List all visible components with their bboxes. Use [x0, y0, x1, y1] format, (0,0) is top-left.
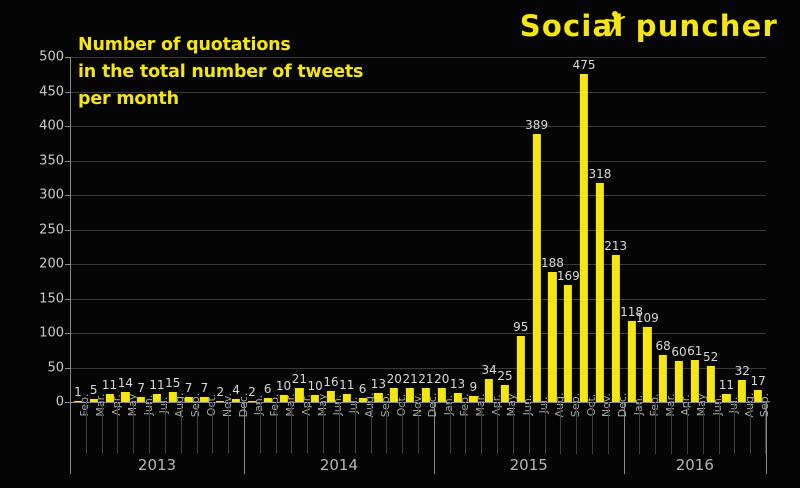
- bar-value-label: 20: [387, 373, 402, 386]
- bar-slot[interactable]: 20: [386, 57, 402, 402]
- bar-series: 1511147111577242610211016116132021212013…: [70, 57, 766, 402]
- year-separator: [70, 402, 71, 474]
- bar-slot[interactable]: 60: [671, 57, 687, 402]
- bar-slot[interactable]: 13: [371, 57, 387, 402]
- bar-value-label: 34: [482, 364, 497, 377]
- x-axis-month-cell: Sep.: [750, 402, 766, 454]
- x-axis-month-cell: Jan.: [244, 402, 260, 454]
- bar-slot[interactable]: 2: [244, 57, 260, 402]
- bar-value-label: 21: [418, 373, 433, 386]
- x-axis-month-cell: Jan.: [434, 402, 450, 454]
- x-axis-month-cell: Aug.: [165, 402, 181, 454]
- bar-value-label: 13: [450, 378, 465, 391]
- year-group-label: 2013: [138, 456, 176, 474]
- bar-value-label: 9: [470, 381, 478, 394]
- bar-value-label: 10: [276, 380, 291, 393]
- bar[interactable]: [612, 255, 620, 402]
- x-axis-month-cell: Dec.: [418, 402, 434, 454]
- x-axis-month-cell: Nov.: [212, 402, 228, 454]
- bar-value-label: 11: [339, 379, 354, 392]
- x-axis-month-cell: May: [497, 402, 513, 454]
- y-tick-label-0: 0: [24, 395, 64, 410]
- bar-value-label: 32: [735, 365, 750, 378]
- title-line-1: Number of quotations: [78, 32, 363, 59]
- x-axis: Feb.Mar.Apr.MayJun.Jul.Aug.Sep.Oct.Nov.D…: [70, 402, 766, 488]
- x-axis-month-cell: Sep.: [371, 402, 387, 454]
- x-axis-month-cell: Mar.: [86, 402, 102, 454]
- bar-slot[interactable]: 16: [323, 57, 339, 402]
- bar-value-label: 60: [671, 346, 686, 359]
- x-axis-month-cell: May: [687, 402, 703, 454]
- bar-slot[interactable]: 475: [576, 57, 592, 402]
- y-tick-label-50: 50: [24, 360, 64, 375]
- x-axis-month-cell: Jun.: [133, 402, 149, 454]
- bar-slot[interactable]: 61: [687, 57, 703, 402]
- x-axis-month-cell: Jan.: [624, 402, 640, 454]
- x-axis-month-cell: Aug.: [355, 402, 371, 454]
- bar-slot[interactable]: 68: [655, 57, 671, 402]
- x-axis-month-cell: May: [307, 402, 323, 454]
- bar-slot[interactable]: 169: [560, 57, 576, 402]
- bar-slot[interactable]: 20: [434, 57, 450, 402]
- brand-logo[interactable]: Social puncher: [520, 6, 778, 46]
- bar-slot[interactable]: 1: [70, 57, 86, 402]
- y-tick-label-350: 350: [24, 153, 64, 168]
- stick-figure-icon: [604, 10, 626, 36]
- x-axis-month-cell: Feb.: [450, 402, 466, 454]
- bar[interactable]: [564, 285, 572, 402]
- year-separator: [244, 402, 245, 474]
- bar-slot[interactable]: 95: [513, 57, 529, 402]
- bar-slot[interactable]: 9: [465, 57, 481, 402]
- x-axis-month-cell: Sep.: [181, 402, 197, 454]
- x-tick-label: Sep.: [758, 393, 771, 417]
- bar-slot[interactable]: 34: [481, 57, 497, 402]
- bar-slot[interactable]: 118: [624, 57, 640, 402]
- y-tick-label-200: 200: [24, 257, 64, 272]
- bar-slot[interactable]: 6: [355, 57, 371, 402]
- bar-slot[interactable]: 188: [545, 57, 561, 402]
- x-axis-month-cell: Feb.: [639, 402, 655, 454]
- bar-value-label: 21: [402, 373, 417, 386]
- x-axis-month-cell: Mar.: [655, 402, 671, 454]
- bar-value-label: 21: [292, 373, 307, 386]
- bar-slot[interactable]: 6: [260, 57, 276, 402]
- x-axis-month-cell: Apr.: [102, 402, 118, 454]
- bar[interactable]: [548, 272, 556, 402]
- bar-slot[interactable]: 11: [149, 57, 165, 402]
- y-tick-label-300: 300: [24, 188, 64, 203]
- y-tick-label-450: 450: [24, 84, 64, 99]
- bar-slot[interactable]: 17: [750, 57, 766, 402]
- bar[interactable]: [643, 327, 651, 402]
- bar-slot[interactable]: 11: [339, 57, 355, 402]
- y-tick-label-100: 100: [24, 326, 64, 341]
- bar-value-label: 11: [102, 379, 117, 392]
- year-separator: [624, 402, 625, 474]
- x-axis-month-cell: Jul.: [719, 402, 735, 454]
- bar-value-label: 16: [323, 376, 338, 389]
- bar-value-label: 25: [497, 370, 512, 383]
- x-axis-month-cell: Apr.: [291, 402, 307, 454]
- x-axis-month-cell: Oct.: [576, 402, 592, 454]
- year-separator: [766, 402, 767, 474]
- x-axis-month-cell: Dec.: [608, 402, 624, 454]
- x-axis-month-cell: Jun.: [323, 402, 339, 454]
- bar-value-label: 14: [118, 377, 133, 390]
- year-group-label: 2015: [510, 456, 548, 474]
- bar-slot[interactable]: 7: [181, 57, 197, 402]
- bar[interactable]: [517, 336, 525, 402]
- bar-slot[interactable]: 14: [117, 57, 133, 402]
- bar-slot[interactable]: 21: [418, 57, 434, 402]
- bar-slot[interactable]: 318: [592, 57, 608, 402]
- y-tick-label-150: 150: [24, 291, 64, 306]
- x-axis-month-cell: Oct.: [197, 402, 213, 454]
- bar-value-label: 11: [719, 379, 734, 392]
- bar-slot[interactable]: 11: [719, 57, 735, 402]
- bar-slot[interactable]: 11: [102, 57, 118, 402]
- x-axis-month-cell: May: [117, 402, 133, 454]
- x-axis-month-cell: Oct.: [386, 402, 402, 454]
- bar[interactable]: [596, 183, 604, 402]
- bar-value-label: 11: [149, 379, 164, 392]
- x-axis-month-cell: Jun.: [703, 402, 719, 454]
- y-tick-label-250: 250: [24, 222, 64, 237]
- x-axis-month-cell: Apr.: [671, 402, 687, 454]
- year-separator: [434, 402, 435, 474]
- bar-slot[interactable]: 109: [639, 57, 655, 402]
- bar-value-label: 52: [703, 351, 718, 364]
- bar-slot[interactable]: 389: [529, 57, 545, 402]
- bar-slot[interactable]: 4: [228, 57, 244, 402]
- x-axis-month-cell: Nov.: [592, 402, 608, 454]
- bar-slot[interactable]: 15: [165, 57, 181, 402]
- bar-slot[interactable]: 2: [212, 57, 228, 402]
- x-axis-month-cell: Jul.: [529, 402, 545, 454]
- bar-slot[interactable]: 213: [608, 57, 624, 402]
- bar[interactable]: [533, 134, 541, 402]
- x-axis-month-cell: Mar.: [465, 402, 481, 454]
- bar-value-label: 10: [308, 380, 323, 393]
- bar-slot[interactable]: 52: [703, 57, 719, 402]
- x-axis-month-cell: Feb.: [70, 402, 86, 454]
- bar-value-label: 15: [165, 377, 180, 390]
- bar-slot[interactable]: 21: [291, 57, 307, 402]
- bar-value-label: 20: [434, 373, 449, 386]
- bar-slot[interactable]: 5: [86, 57, 102, 402]
- bar-slot[interactable]: 10: [276, 57, 292, 402]
- bar-slot[interactable]: 7: [197, 57, 213, 402]
- x-axis-month-cell: Mar.: [276, 402, 292, 454]
- chart-canvas: Social puncher Number of quotations in t…: [0, 0, 800, 488]
- bar-slot[interactable]: 13: [450, 57, 466, 402]
- x-axis-month-cell: Apr.: [481, 402, 497, 454]
- x-axis-month-cell: Feb.: [260, 402, 276, 454]
- x-axis-month-cell: Aug.: [545, 402, 561, 454]
- bar[interactable]: [580, 74, 588, 402]
- x-axis-month-cell: Aug.: [734, 402, 750, 454]
- y-tick-label-400: 400: [24, 119, 64, 134]
- bar-slot[interactable]: 25: [497, 57, 513, 402]
- bar-slot[interactable]: 32: [734, 57, 750, 402]
- bar-value-label: 61: [687, 345, 702, 358]
- x-axis-month-cell: Jul.: [339, 402, 355, 454]
- bar-slot[interactable]: 7: [133, 57, 149, 402]
- x-axis-month-cell: Nov.: [402, 402, 418, 454]
- bar-value-label: 13: [371, 378, 386, 391]
- x-axis-month-cell: Jul.: [149, 402, 165, 454]
- bar[interactable]: [627, 321, 635, 402]
- logo-text: Social puncher: [520, 12, 778, 41]
- year-group-label: 2014: [320, 456, 358, 474]
- y-tick-label-500: 500: [24, 50, 64, 65]
- year-group-label: 2016: [676, 456, 714, 474]
- x-axis-month-cell: Dec.: [228, 402, 244, 454]
- bar-value-label: 95: [513, 321, 528, 334]
- x-axis-month-cell: Jun.: [513, 402, 529, 454]
- bar-value-label: 68: [656, 340, 671, 353]
- bar-slot[interactable]: 21: [402, 57, 418, 402]
- bar-value-label: 17: [750, 375, 765, 388]
- bar-slot[interactable]: 10: [307, 57, 323, 402]
- x-axis-month-cell: Sep.: [560, 402, 576, 454]
